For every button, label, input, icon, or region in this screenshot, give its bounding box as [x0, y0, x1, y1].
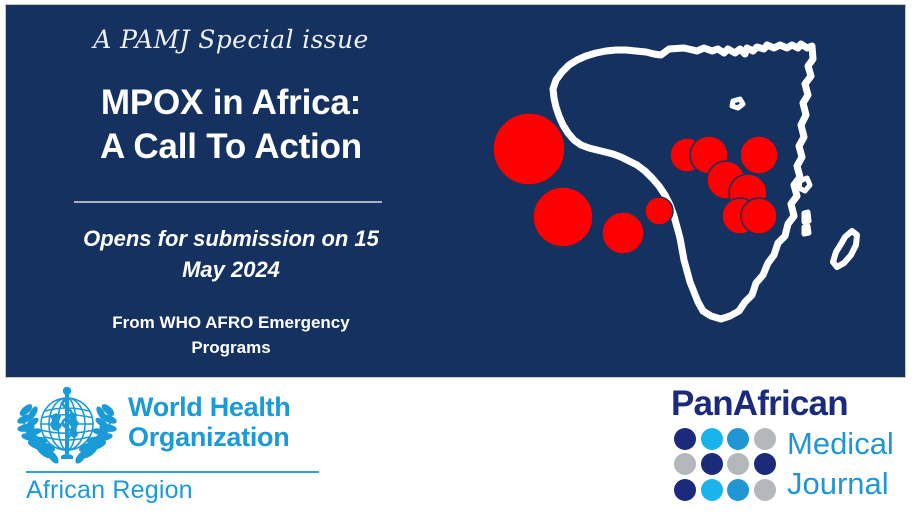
who-wordmark-line2: Organization — [128, 422, 290, 452]
pamj-dot — [754, 453, 776, 475]
footer-logos: World Health Organization African Region… — [0, 378, 921, 518]
special-issue-kicker: A PAMJ Special issue — [6, 25, 456, 54]
submission-date-line2: May 2024 — [36, 254, 426, 285]
pamj-journal-label: Journal — [787, 466, 889, 502]
pamj-dot — [701, 453, 723, 475]
pamj-dot — [701, 428, 723, 450]
poster-canvas: A PAMJ Special issue MPOX in Africa: A C… — [0, 0, 921, 518]
who-laurel-left — [17, 403, 60, 464]
who-wordmark: World Health Organization — [128, 392, 290, 452]
submission-date-line1: Opens for submission on 15 — [36, 223, 426, 254]
pamj-dot — [754, 479, 776, 501]
pamj-medical-label: Medical — [787, 426, 894, 462]
who-emblem-rod-of-asclepius — [12, 386, 122, 468]
pamj-logo: PanAfrican Medical Journal — [665, 382, 915, 514]
who-region-label: African Region — [26, 476, 193, 505]
marker-southwest-atlantic-medium — [602, 212, 644, 254]
africa-map — [456, 5, 906, 378]
pamj-dot — [674, 479, 696, 501]
marker-gulf-of-guinea-small — [645, 197, 673, 225]
issuer-line1: From WHO AFRO Emergency — [46, 310, 416, 335]
who-logo: World Health Organization African Region — [12, 384, 332, 514]
submission-date-text: Opens for submission on 15 May 2024 — [36, 223, 426, 285]
who-divider — [26, 471, 319, 473]
pamj-dot — [754, 428, 776, 450]
marker-southwest-atlantic-large — [533, 187, 593, 247]
marker-drc-east — [741, 198, 777, 234]
outbreak-markers — [493, 113, 778, 254]
page-title-line2: A Call To Action — [6, 125, 456, 169]
madagascar-outline-path — [833, 231, 857, 267]
africa-outline-path — [553, 44, 813, 319]
hero-text-column: A PAMJ Special issue MPOX in Africa: A C… — [6, 5, 456, 378]
pamj-dot — [674, 453, 696, 475]
page-title: MPOX in Africa: A Call To Action — [6, 81, 456, 169]
page-title-line1: MPOX in Africa: — [6, 81, 456, 125]
marker-sudan — [740, 136, 778, 174]
issuer-text: From WHO AFRO Emergency Programs — [46, 310, 416, 360]
title-divider — [74, 201, 382, 203]
who-laurel-right — [74, 403, 117, 464]
hero-panel: A PAMJ Special issue MPOX in Africa: A C… — [5, 4, 906, 378]
pamj-wordmark: PanAfrican — [671, 384, 848, 424]
pamj-dot-grid — [674, 428, 778, 502]
pamj-dot — [727, 479, 749, 501]
who-wordmark-line1: World Health — [128, 392, 290, 422]
pamj-dot — [727, 453, 749, 475]
issuer-line2: Programs — [46, 335, 416, 360]
marker-west-atlantic-large — [493, 113, 565, 185]
pamj-dot — [701, 479, 723, 501]
pamj-dot — [727, 428, 749, 450]
pamj-dot — [674, 428, 696, 450]
